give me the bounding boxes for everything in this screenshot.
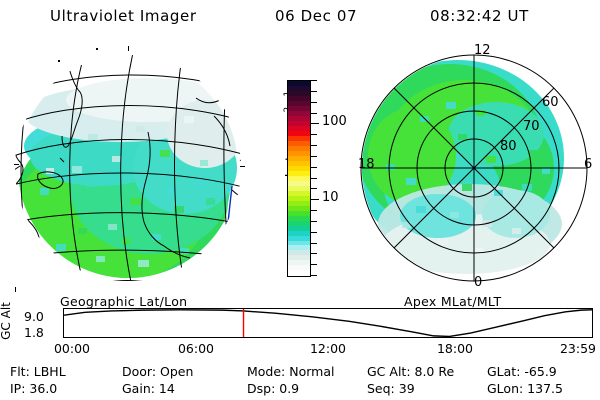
time-tick-label: 12:00 (310, 341, 346, 356)
geographic-aurora-panel (0, 38, 268, 296)
colorbar-segment (288, 270, 310, 275)
observation-time: 08:32:42 UT (430, 7, 529, 25)
orbit-altitude-curve (64, 310, 592, 337)
colorbar-label-10: 10 (322, 191, 339, 204)
status-footer: Flt: LBHLDoor: OpenMode: NormalGC Alt: 8… (0, 362, 600, 400)
aurora-emission-right (352, 60, 564, 274)
time-tick-label: 23:59 (560, 341, 596, 356)
status-gc-alt: GC Alt: 8.0 Re (367, 364, 454, 379)
status-mode: Mode: Normal (247, 364, 334, 379)
orbit-y-axis-label: GC Alt (0, 301, 19, 341)
geographic-aurora-image (0, 38, 268, 296)
status-flt: Flt: LBHL (10, 364, 66, 379)
colorbar-tick (311, 221, 317, 222)
orbit-altitude-strip: GC Alt 9.0 1.8 (0, 306, 600, 340)
colorbar-tick (311, 253, 317, 254)
colorbar-tick (311, 178, 317, 179)
mlat-label-80: 80 (500, 139, 517, 154)
mlt-label-6: 6 (584, 157, 592, 172)
colorbar-tick (311, 156, 317, 157)
polar-aurora-image: 126018607080 (346, 38, 600, 296)
mlt-label-18: 18 (358, 157, 375, 172)
colorbar-tick (311, 188, 317, 189)
mlat-label-60: 60 (542, 95, 559, 110)
mlt-label-0: 0 (474, 275, 482, 290)
colorbar-tick (311, 91, 317, 92)
orbit-ytick-bottom: 1.8 (24, 325, 44, 340)
status-glat: GLat: -65.9 (487, 364, 557, 379)
colorbar: photon cm-2s-1 100 10 (262, 52, 346, 296)
orbit-altitude-plot[interactable] (63, 308, 593, 338)
polar-grid (361, 55, 587, 281)
colorbar-tick (311, 243, 317, 244)
colorbar-tick (311, 145, 317, 146)
instrument-title: Ultraviolet Imager (50, 7, 197, 25)
time-tick-label: 00:00 (54, 341, 90, 356)
status-gain: Gain: 14 (122, 381, 175, 396)
mlt-label-12: 12 (474, 43, 491, 58)
colorbar-tick (311, 210, 317, 211)
observation-date: 06 Dec 07 (275, 7, 357, 25)
status-door: Door: Open (122, 364, 193, 379)
mlat-label-70: 70 (523, 119, 540, 134)
header: Ultraviolet Imager 06 Dec 07 08:32:42 UT (0, 4, 600, 30)
time-tick-label: 06:00 (178, 341, 214, 356)
orbit-ytick-top: 9.0 (24, 309, 44, 324)
colorbar-tick (311, 102, 317, 103)
aurora-emission-left (14, 55, 243, 283)
colorbar-tick (311, 199, 319, 200)
colorbar-label-100: 100 (322, 115, 347, 128)
colorbar-tick (311, 80, 317, 81)
time-tick-label: 18:00 (437, 341, 473, 356)
colorbar-tick (311, 134, 317, 135)
colorbar-tick (311, 264, 317, 265)
apex-polar-panel: 126018607080 (346, 38, 600, 296)
colorbar-tick (311, 167, 317, 168)
time-axis: 00:0006:0012:0018:0023:59 (0, 341, 600, 357)
colorbar-tick (311, 275, 317, 276)
status-seq: Seq: 39 (367, 381, 415, 396)
colorbar-gradient (287, 80, 311, 277)
uvi-summary-plot: Ultraviolet Imager 06 Dec 07 08:32:42 UT (0, 0, 600, 400)
status-ip: IP: 36.0 (10, 381, 57, 396)
status-glon: GLon: 137.5 (487, 381, 563, 396)
status-dsp: Dsp: 0.9 (247, 381, 299, 396)
colorbar-tick (311, 123, 319, 124)
colorbar-tick (311, 113, 317, 114)
colorbar-tick (311, 232, 317, 233)
